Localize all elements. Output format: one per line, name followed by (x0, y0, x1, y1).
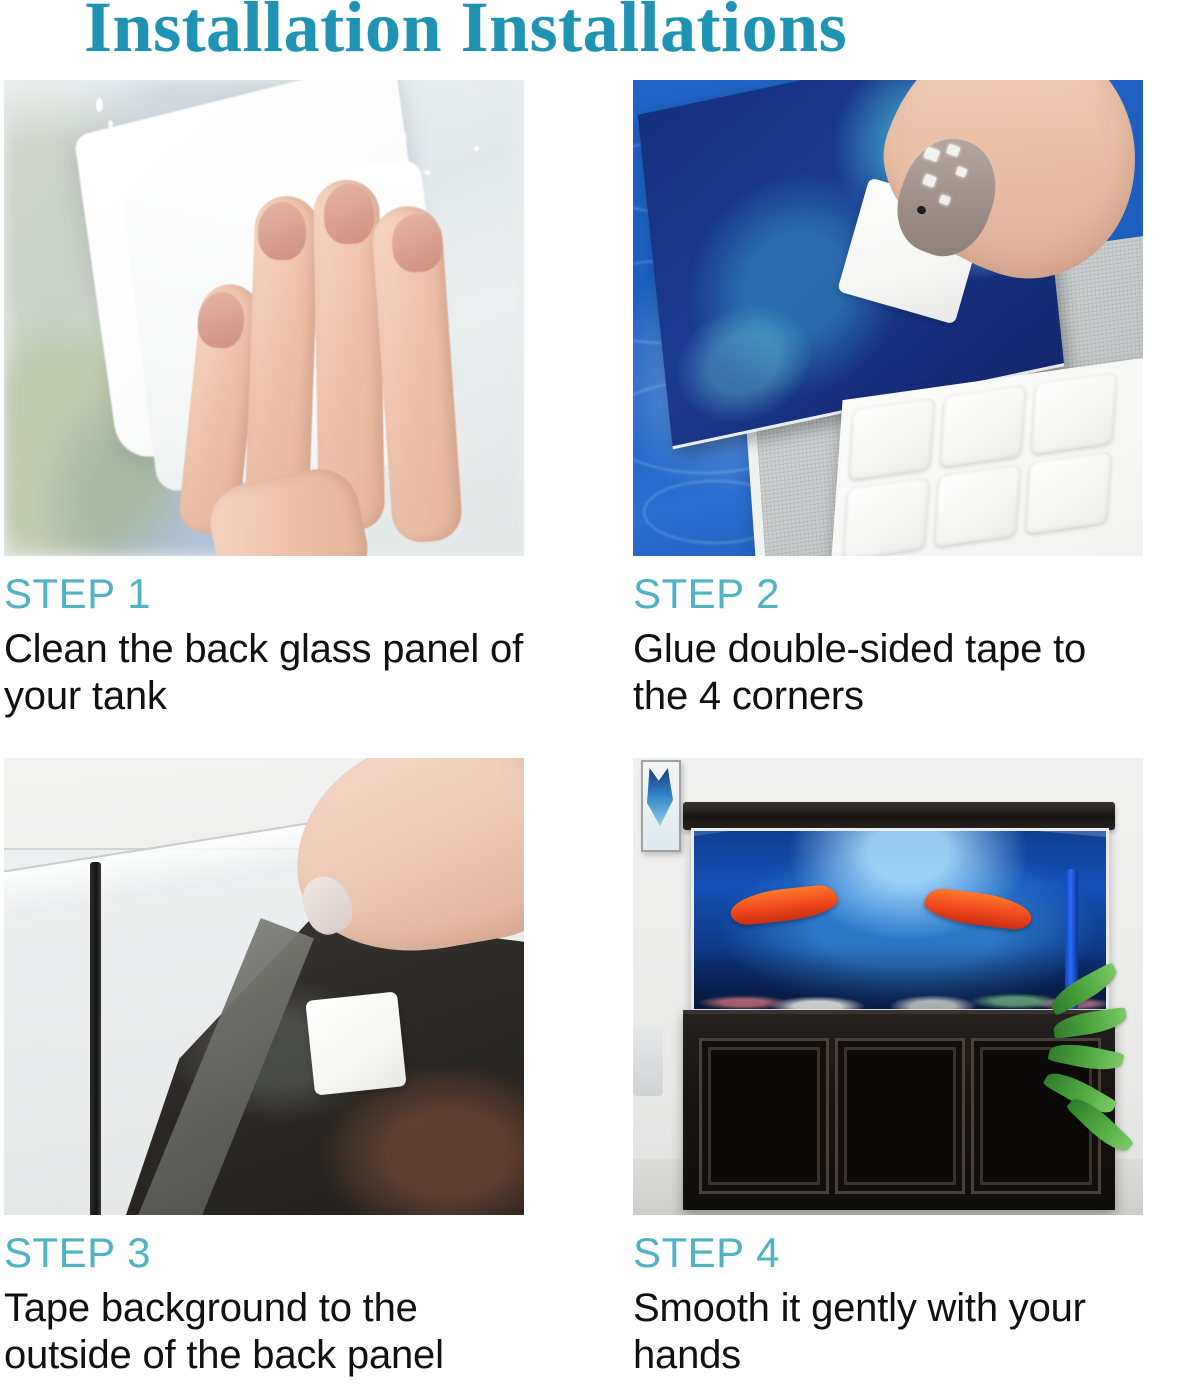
houseplant (1019, 972, 1143, 1152)
side-furniture (633, 1026, 663, 1096)
step-3-label: STEP 3 (4, 1231, 524, 1275)
step-2-photo (633, 80, 1143, 556)
step-1-description: Clean the back glass panel of your tank (4, 626, 524, 720)
step-card-1: STEP 1 Clean the back glass panel of you… (4, 80, 524, 720)
installation-steps-grid: STEP 1 Clean the back glass panel of you… (0, 0, 1185, 1398)
step-3-photo (4, 758, 524, 1215)
step-4-description: Smooth it gently with your hands (633, 1285, 1143, 1379)
aquarium-hood (683, 802, 1115, 830)
cabinet-door[interactable] (835, 1038, 965, 1194)
hand (154, 176, 524, 556)
step-4-photo (633, 758, 1143, 1215)
step-card-2: STEP 2 Glue double-sided tape to the 4 c… (633, 80, 1143, 720)
adhesive-pad (305, 991, 406, 1095)
cabinet-door[interactable] (699, 1038, 829, 1194)
step-4-label: STEP 4 (633, 1231, 1143, 1275)
page-header: Installation Installations (0, 0, 1185, 72)
step-card-3: STEP 3 Tape background to the outside of… (4, 758, 524, 1379)
step-3-description: Tape background to the outside of the ba… (4, 1285, 524, 1379)
step-2-label: STEP 2 (633, 572, 1143, 616)
wall-art-frame (641, 760, 681, 852)
page-title: Installation Installations (84, 0, 847, 69)
tank-corner-trim (90, 862, 101, 1215)
step-2-description: Glue double-sided tape to the 4 corners (633, 626, 1143, 720)
step-card-4: STEP 4 Smooth it gently with your hands (633, 758, 1143, 1379)
step-1-photo (4, 80, 524, 556)
step-1-label: STEP 1 (4, 572, 524, 616)
